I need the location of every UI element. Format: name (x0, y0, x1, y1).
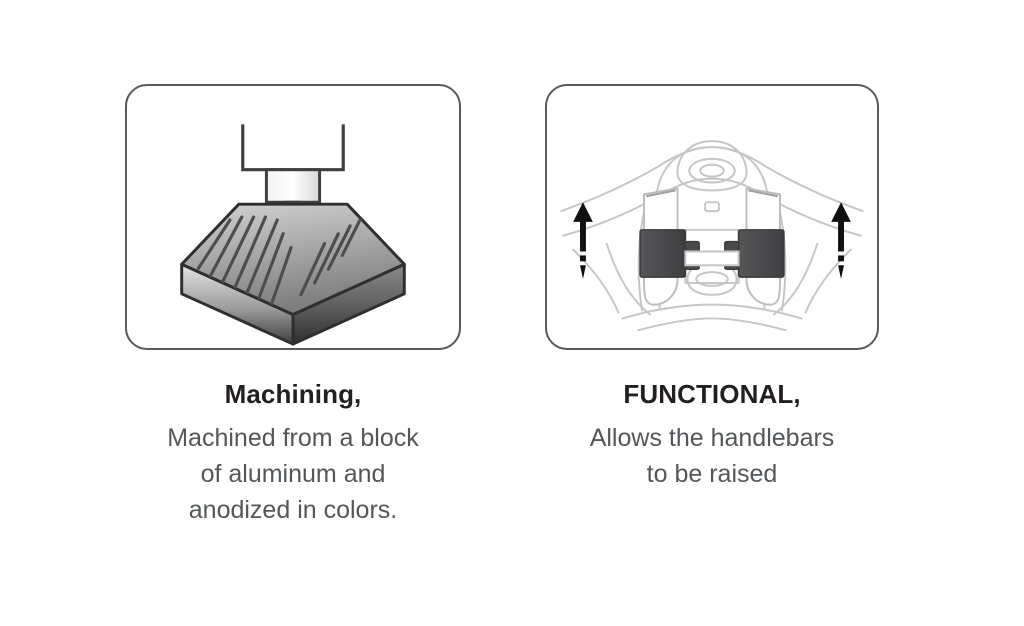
feature-title: Machining, (125, 380, 461, 410)
feature-title: FUNCTIONAL, (545, 380, 879, 410)
workpiece-block (182, 204, 405, 344)
icon-card-functional (545, 84, 879, 350)
handlebar-riser-icon (547, 86, 877, 348)
caption-functional: FUNCTIONAL, Allows the handlebars to be … (545, 380, 879, 492)
scooter-cockpit-outline (561, 141, 862, 330)
spindle-bracket (243, 124, 343, 169)
feature-card-machining: Machining, Machined from a block of alum… (125, 84, 461, 529)
caption-machining: Machining, Machined from a block of alum… (125, 380, 461, 529)
page-root: Machining, Machined from a block of alum… (0, 0, 1024, 626)
feature-card-functional: FUNCTIONAL, Allows the handlebars to be … (545, 84, 879, 492)
riser-cross-bar (685, 251, 738, 265)
cnc-milling-machine-icon (127, 86, 459, 348)
feature-description: Allows the handlebars to be raised (545, 420, 879, 493)
icon-card-machining (125, 84, 461, 350)
spindle-collar (266, 170, 319, 203)
feature-description: Machined from a block of aluminum and an… (125, 420, 461, 529)
